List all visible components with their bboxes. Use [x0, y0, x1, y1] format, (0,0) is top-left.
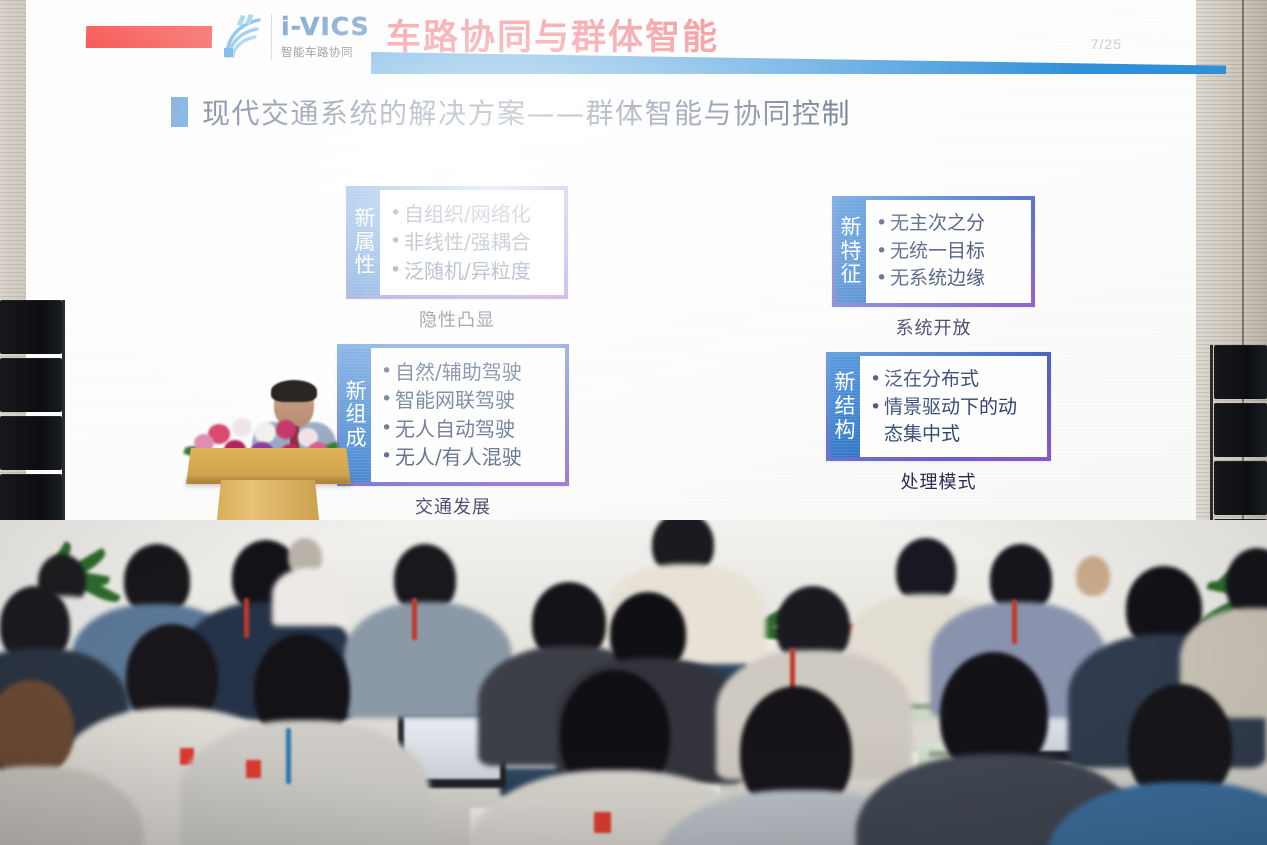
- list-item-label: 无系统边缘: [890, 265, 985, 292]
- badge-icon: [246, 760, 261, 778]
- tab-char: 属: [355, 231, 376, 255]
- tab-char: 结: [835, 395, 856, 419]
- box-frame: 新 属 性 •自组织/网络化 •非线性/强耦合 •泛随机/异粒度: [346, 186, 568, 299]
- content-box-new-features: 新 特 征 •无主次之分 •无统一目标 •无系统边缘 系统开放: [832, 196, 1035, 340]
- bullet-icon: •: [870, 394, 884, 422]
- list-item-label: 自然/辅助驾驶: [395, 358, 522, 386]
- page-number: 7/25: [1091, 36, 1122, 52]
- list-item-label: 泛随机/异粒度: [404, 257, 531, 285]
- slide-heading: 现代交通系统的解决方案——群体智能与协同控制: [171, 92, 851, 132]
- list-item: •无人自动驾驶: [381, 415, 551, 443]
- bullet-icon: •: [390, 228, 404, 256]
- list-item: •泛在分布式: [870, 366, 1033, 394]
- bullet-icon: •: [390, 200, 404, 228]
- list-item: •无统一目标: [876, 238, 1017, 266]
- list-item-label: 无统一目标: [890, 238, 985, 265]
- bullet-icon: •: [876, 265, 890, 293]
- box-frame: 新 结 构 •泛在分布式 •情景驱动下的动态集中式: [826, 352, 1051, 461]
- tab-char: 新: [835, 371, 856, 395]
- logo-divider: [271, 14, 272, 60]
- content-box-new-components: 新 组 成 •自然/辅助驾驶 •智能网联驾驶 •无人自动驾驶 •无人/有人混驶 …: [337, 344, 569, 519]
- list-item-label: 泛在分布式: [884, 366, 979, 393]
- list-item-label: 非线性/强耦合: [404, 228, 531, 256]
- tab-char: 构: [835, 419, 856, 443]
- content-box-new-attributes: 新 属 性 •自组织/网络化 •非线性/强耦合 •泛随机/异粒度 隐性凸显: [346, 186, 568, 332]
- box-caption: 系统开放: [832, 314, 1035, 340]
- list-item-label: 无人/有人混驶: [395, 443, 522, 471]
- bullet-icon: •: [381, 358, 395, 386]
- logo-subtitle: 智能车路协同: [281, 44, 370, 60]
- box-caption: 处理模式: [826, 468, 1051, 494]
- conference-audience: [0, 520, 1267, 845]
- tab-char: 特: [841, 240, 862, 264]
- tab-char: 新: [355, 207, 376, 231]
- box-item-list: •泛在分布式 •情景驱动下的动态集中式: [860, 356, 1047, 457]
- list-item: •无人/有人混驶: [381, 443, 551, 471]
- presenter-hair: [271, 380, 317, 402]
- list-item-label: 智能网联驾驶: [395, 386, 515, 414]
- ivics-logo: i-VICS 智能车路协同: [219, 6, 371, 68]
- bullet-icon: •: [381, 443, 395, 471]
- list-item: •智能网联驾驶: [381, 386, 551, 414]
- tab-char: 新: [346, 380, 367, 404]
- list-item-label: 无主次之分: [890, 210, 985, 237]
- audience-shoulders: [180, 720, 430, 845]
- bullet-icon: •: [381, 386, 395, 414]
- box-item-list: •自然/辅助驾驶 •智能网联驾驶 •无人自动驾驶 •无人/有人混驶: [371, 348, 565, 482]
- tab-char: 新: [841, 216, 862, 240]
- list-item: •无系统边缘: [876, 265, 1017, 293]
- bullet-icon: •: [390, 257, 404, 285]
- box-frame: 新 特 征 •无主次之分 •无统一目标 •无系统边缘: [832, 196, 1035, 307]
- bullet-icon: •: [876, 238, 890, 266]
- tab-char: 性: [355, 254, 376, 278]
- box-tab-label: 新 特 征: [836, 200, 866, 303]
- blue-sweep-accent: [371, 52, 1226, 74]
- list-item: •非线性/强耦合: [390, 228, 550, 256]
- heading-tick-icon: [171, 97, 188, 127]
- list-item: •自组织/网络化: [390, 200, 550, 228]
- slide-header: i-VICS 智能车路协同 车路协同与群体智能 7/25: [26, 0, 1196, 78]
- bullet-icon: •: [870, 366, 884, 394]
- box-frame: 新 组 成 •自然/辅助驾驶 •智能网联驾驶 •无人自动驾驶 •无人/有人混驶: [337, 344, 569, 486]
- box-caption: 交通发展: [337, 493, 569, 519]
- heading-text: 现代交通系统的解决方案——群体智能与协同控制: [202, 92, 851, 132]
- logo-text: i-VICS 智能车路协同: [281, 14, 370, 60]
- logo-name: i-VICS: [281, 14, 370, 39]
- box-caption: 隐性凸显: [346, 306, 568, 332]
- list-item-label: 无人自动驾驶: [395, 415, 515, 443]
- list-item: •无主次之分: [876, 210, 1017, 238]
- list-item-label: 情景驱动下的动态集中式: [884, 394, 1033, 448]
- audience-shoulders: [272, 568, 348, 626]
- tab-char: 征: [841, 263, 862, 287]
- list-item-label: 自组织/网络化: [404, 200, 531, 228]
- audience-head: [1076, 556, 1110, 596]
- red-accent-bar: [86, 26, 213, 48]
- list-item: •泛随机/异粒度: [390, 257, 550, 285]
- content-box-new-structure: 新 结 构 •泛在分布式 •情景驱动下的动态集中式 处理模式: [826, 352, 1051, 494]
- box-item-list: •无主次之分 •无统一目标 •无系统边缘: [866, 200, 1031, 303]
- bullet-icon: •: [876, 210, 890, 238]
- box-item-list: •自组织/网络化 •非线性/强耦合 •泛随机/异粒度: [380, 190, 564, 295]
- badge-icon: [594, 812, 611, 833]
- list-item: •情景驱动下的动态集中式: [870, 394, 1033, 448]
- wifi-arc-logo-icon: [219, 12, 267, 62]
- box-tab-label: 新 属 性: [350, 190, 380, 295]
- lanyard: [1012, 600, 1017, 644]
- lanyard: [412, 598, 417, 640]
- lanyard: [244, 598, 249, 638]
- conference-photo-scene: i-VICS 智能车路协同 车路协同与群体智能 7/25 现代交通系统的解决方案…: [0, 0, 1267, 845]
- slide-header-title: 车路协同与群体智能: [386, 9, 719, 60]
- box-tab-label: 新 结 构: [830, 356, 860, 457]
- list-item: •自然/辅助驾驶: [381, 358, 551, 386]
- bullet-icon: •: [381, 415, 395, 443]
- lanyard: [286, 728, 291, 784]
